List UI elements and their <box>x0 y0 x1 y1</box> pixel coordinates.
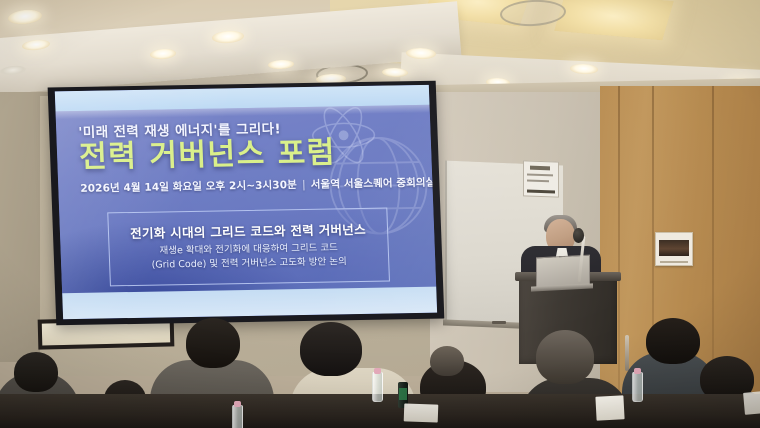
framed-picture <box>655 232 693 266</box>
slide-venue: 서울역 서울스퀘어 중회의실-2 <box>311 176 438 190</box>
audience-head <box>536 330 594 384</box>
slide-topic-title: 전기화 시대의 그리드 코드와 전력 거버넌스 <box>109 219 388 243</box>
papers[interactable] <box>743 391 760 415</box>
water-bottle[interactable] <box>372 372 383 402</box>
slide-bottom-band <box>62 287 437 320</box>
whiteboard-marker[interactable] <box>492 321 506 324</box>
door-handle[interactable] <box>625 335 629 371</box>
audience-head <box>300 322 362 376</box>
audience-head <box>14 352 58 392</box>
slide-topic-box: 전기화 시대의 그리드 코드와 전력 거버넌스 재생e 확대와 전기화에 대응하… <box>107 208 390 287</box>
wall-notice-sign <box>523 160 559 197</box>
slide-date: 2026년 4월 14일 화요일 오후 2시~3시30분 <box>80 179 297 195</box>
audience-head <box>646 318 700 364</box>
slide-title: 전력 거버넌스 포럼 <box>79 135 420 175</box>
papers[interactable] <box>404 403 439 422</box>
papers[interactable] <box>595 395 624 420</box>
water-bottle[interactable] <box>632 372 643 402</box>
conference-room-photo: '미래 전력 재생 에너지'를 그리다! 전력 거버넌스 포럼 2026년 4월… <box>0 0 760 428</box>
slide-topic-subtitle: 재생e 확대와 전기화에 대응하여 그리드 코드 (Grid Code) 및 전… <box>109 241 388 274</box>
presentation-slide: '미래 전력 재생 에너지'를 그리다! 전력 거버넌스 포럼 2026년 4월… <box>55 85 437 319</box>
slide-separator: | <box>302 179 306 191</box>
projection-screen: '미래 전력 재생 에너지'를 그리다! 전력 거버넌스 포럼 2026년 4월… <box>48 81 445 326</box>
slide-date-venue: 2026년 4월 14일 화요일 오후 2시~3시30분|서울역 서울스퀘어 중… <box>80 175 425 196</box>
projection-screen-surface: '미래 전력 재생 에너지'를 그리다! 전력 거버넌스 포럼 2026년 4월… <box>55 85 437 319</box>
water-bottle[interactable] <box>232 405 243 428</box>
audience-head <box>186 318 240 368</box>
audience-head <box>430 346 464 376</box>
microphone-icon <box>573 228 584 243</box>
